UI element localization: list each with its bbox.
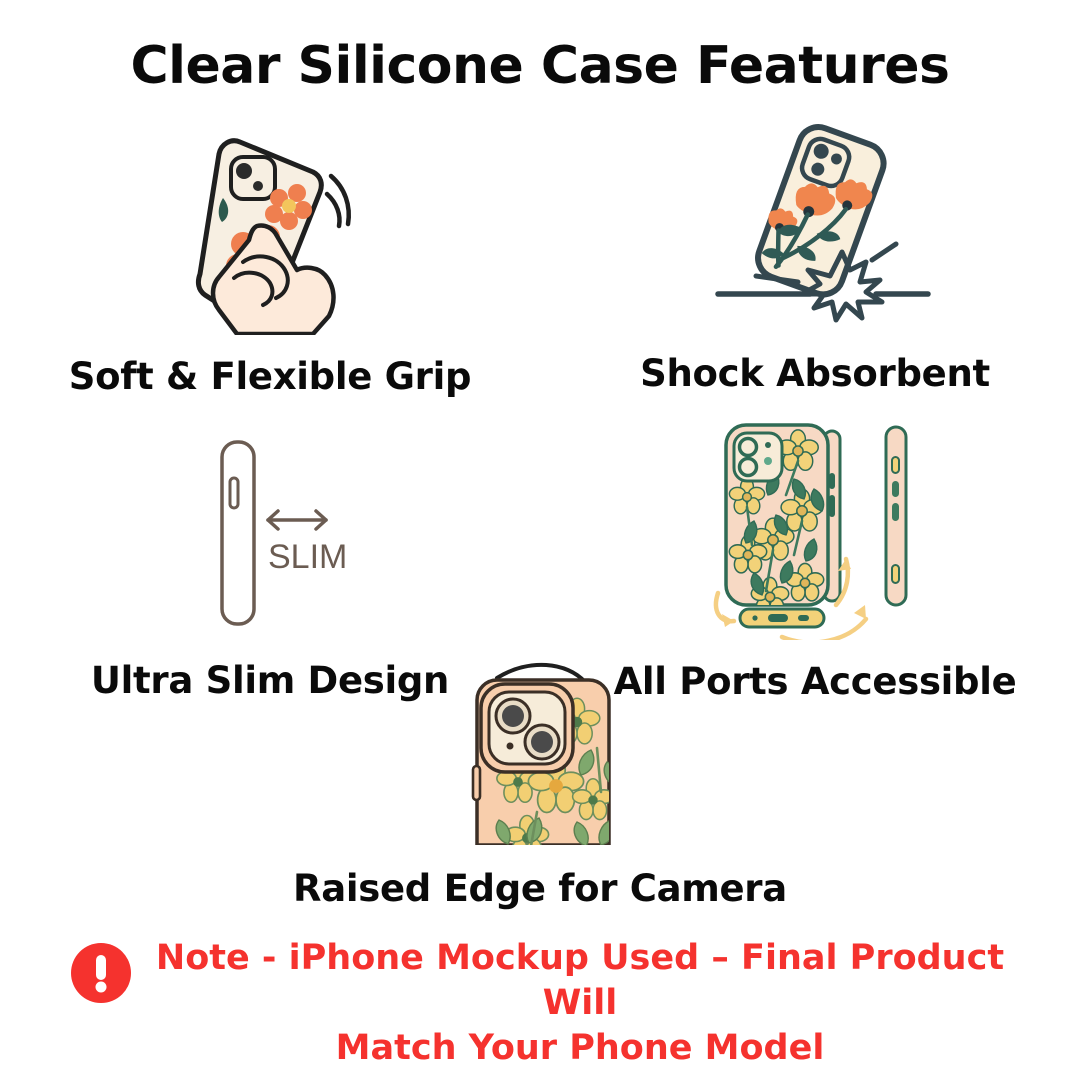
feature-illustration [565, 415, 1065, 640]
feature-soft-flexible-grip: Soft & Flexible Grip [20, 120, 520, 398]
feature-infographic: Clear Silicone Case Features [0, 0, 1080, 1080]
feature-illustration: SLIM [20, 420, 520, 635]
exclamation-circle-icon [70, 942, 132, 1009]
feature-illustration [255, 660, 825, 845]
phone-ports-edges-icon [690, 415, 940, 640]
feature-label: Raised Edge for Camera [255, 867, 825, 910]
feature-illustration [565, 120, 1065, 330]
feature-shock-absorbent: Shock Absorbent [565, 120, 1065, 395]
hand-holding-flexible-phone-case-icon [145, 120, 395, 335]
note-line-2: Match Your Phone Model [150, 1026, 1010, 1071]
slim-measure-label: SLIM [268, 538, 347, 576]
note-line-1: Note - iPhone Mockup Used – Final Produc… [150, 936, 1010, 1026]
feature-label: Soft & Flexible Grip [20, 355, 520, 398]
feature-label: Shock Absorbent [565, 352, 1065, 395]
note-banner: Note - iPhone Mockup Used – Final Produc… [0, 936, 1080, 1070]
phone-raised-camera-edge-icon [425, 660, 655, 845]
note-text: Note - iPhone Mockup Used – Final Produc… [150, 936, 1010, 1070]
page-title: Clear Silicone Case Features [0, 36, 1080, 96]
phone-drop-impact-icon [690, 120, 940, 330]
feature-illustration [20, 120, 520, 335]
phone-side-profile-slim-icon: SLIM [140, 420, 400, 635]
feature-raised-edge-for-camera: Raised Edge for Camera [255, 660, 825, 910]
